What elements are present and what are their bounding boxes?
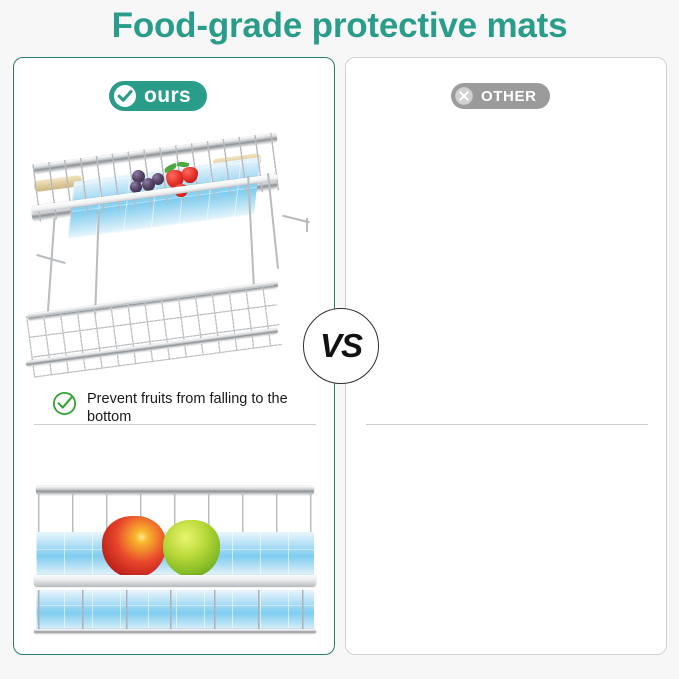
cross-circle-icon — [454, 86, 474, 106]
vs-badge: VS — [303, 308, 379, 384]
caption-ours-1-text: Prevent fruits from falling to the botto… — [87, 390, 307, 426]
badge-other: OTHER — [451, 83, 550, 109]
badge-ours-label: ours — [144, 84, 191, 108]
green-apple — [163, 520, 220, 577]
image-apples-on-protective-mat — [24, 482, 324, 642]
panel-ours: ours — [13, 57, 335, 655]
caption-ours-2-text: It protects your fruits from damage — [87, 653, 307, 655]
page-title: Food-grade protective mats — [0, 6, 679, 46]
comparison-infographic: Food-grade protective mats ours — [0, 0, 679, 679]
panel-ours-divider — [34, 424, 316, 425]
caption-ours-1: Prevent fruits from falling to the botto… — [52, 390, 307, 426]
check-circle-icon — [52, 391, 77, 416]
caption-ours-2: It protects your fruits from damage — [52, 653, 307, 655]
check-circle-icon — [113, 84, 137, 108]
badge-ours: ours — [109, 81, 207, 111]
check-circle-icon — [52, 654, 77, 655]
panel-other-divider — [366, 424, 648, 425]
badge-other-label: OTHER — [481, 88, 537, 105]
panel-other: OTHER — [345, 57, 667, 655]
red-apple — [102, 516, 166, 578]
image-chrome-rack-with-blue-mat — [14, 118, 334, 380]
